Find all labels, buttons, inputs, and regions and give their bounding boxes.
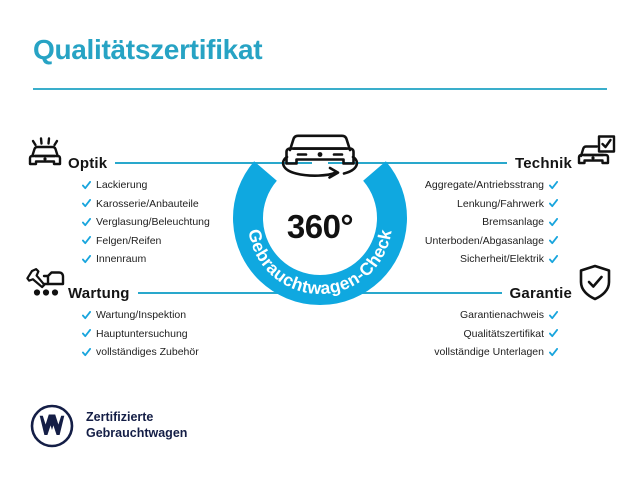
list-garantie: Garantienachweis Qualitätszertifikat vol…	[328, 310, 618, 358]
list-item-label: Felgen/Reifen	[96, 236, 161, 247]
section-title-wartung: Wartung	[68, 285, 130, 302]
check-icon	[82, 199, 91, 208]
footer-text: Zertifizierte Gebrauchtwagen	[86, 410, 187, 441]
list-item-label: Hauptuntersuchung	[96, 329, 188, 340]
check-icon	[82, 181, 91, 190]
list-item-label: Aggregate/Antriebsstrang	[425, 180, 544, 191]
list-item-label: Karosserie/Anbauteile	[96, 199, 199, 210]
list-item-label: vollständige Unterlagen	[434, 347, 544, 358]
list-item-label: Qualitätszertifikat	[463, 329, 544, 340]
car-rotation-icon	[283, 136, 357, 178]
check-icon	[82, 236, 91, 245]
badge-curved-label: Gebrauchtwagen-Check	[244, 227, 395, 298]
list-item-label: Garantienachweis	[460, 310, 544, 321]
list-item-label: vollständiges Zubehör	[96, 347, 199, 358]
list-item-label: Verglasung/Beleuchtung	[96, 217, 210, 228]
check-icon	[549, 311, 558, 320]
page-title: Qualitätszertifikat	[33, 36, 262, 64]
footer-brand: Zertifizierte Gebrauchtwagen	[30, 404, 187, 448]
list-item-label: Lackierung	[96, 180, 147, 191]
check-icon	[82, 311, 91, 320]
list-item-label: Lenkung/Fahrwerk	[457, 199, 544, 210]
check-icon	[549, 329, 558, 338]
check-icon	[82, 218, 91, 227]
footer-line-1: Zertifizierte	[86, 410, 187, 426]
section-title-technik: Technik	[515, 155, 572, 172]
check-icon	[82, 329, 91, 338]
check-icon	[549, 218, 558, 227]
check-icon	[549, 199, 558, 208]
section-title-garantie: Garantie	[510, 285, 572, 302]
vw-logo-icon	[30, 404, 74, 448]
footer-line-2: Gebrauchtwagen	[86, 426, 187, 442]
list-wartung: Wartung/Inspektion Hauptuntersuchung vol…	[22, 310, 312, 358]
car-checkbox-icon	[572, 132, 618, 174]
360-check-badge: Gebrauchtwagen-Check	[228, 118, 412, 314]
certificate-page: Qualitätszertifikat	[0, 0, 640, 480]
check-icon	[549, 348, 558, 357]
list-item: Qualitätszertifikat	[328, 329, 558, 340]
list-item-label: Bremsanlage	[482, 217, 544, 228]
check-icon	[549, 236, 558, 245]
list-item: vollständige Unterlagen	[328, 347, 558, 358]
list-item-label: Wartung/Inspektion	[96, 310, 186, 321]
wrench-car-icon	[22, 262, 68, 304]
shield-check-icon	[572, 262, 618, 304]
list-item: Hauptuntersuchung	[82, 329, 312, 340]
list-item-label: Unterboden/Abgasanlage	[425, 236, 544, 247]
list-item: vollständiges Zubehör	[82, 347, 312, 358]
check-icon	[82, 348, 91, 357]
title-divider	[33, 88, 607, 90]
section-title-optik: Optik	[68, 155, 107, 172]
car-polish-icon	[22, 132, 68, 174]
check-icon	[549, 181, 558, 190]
